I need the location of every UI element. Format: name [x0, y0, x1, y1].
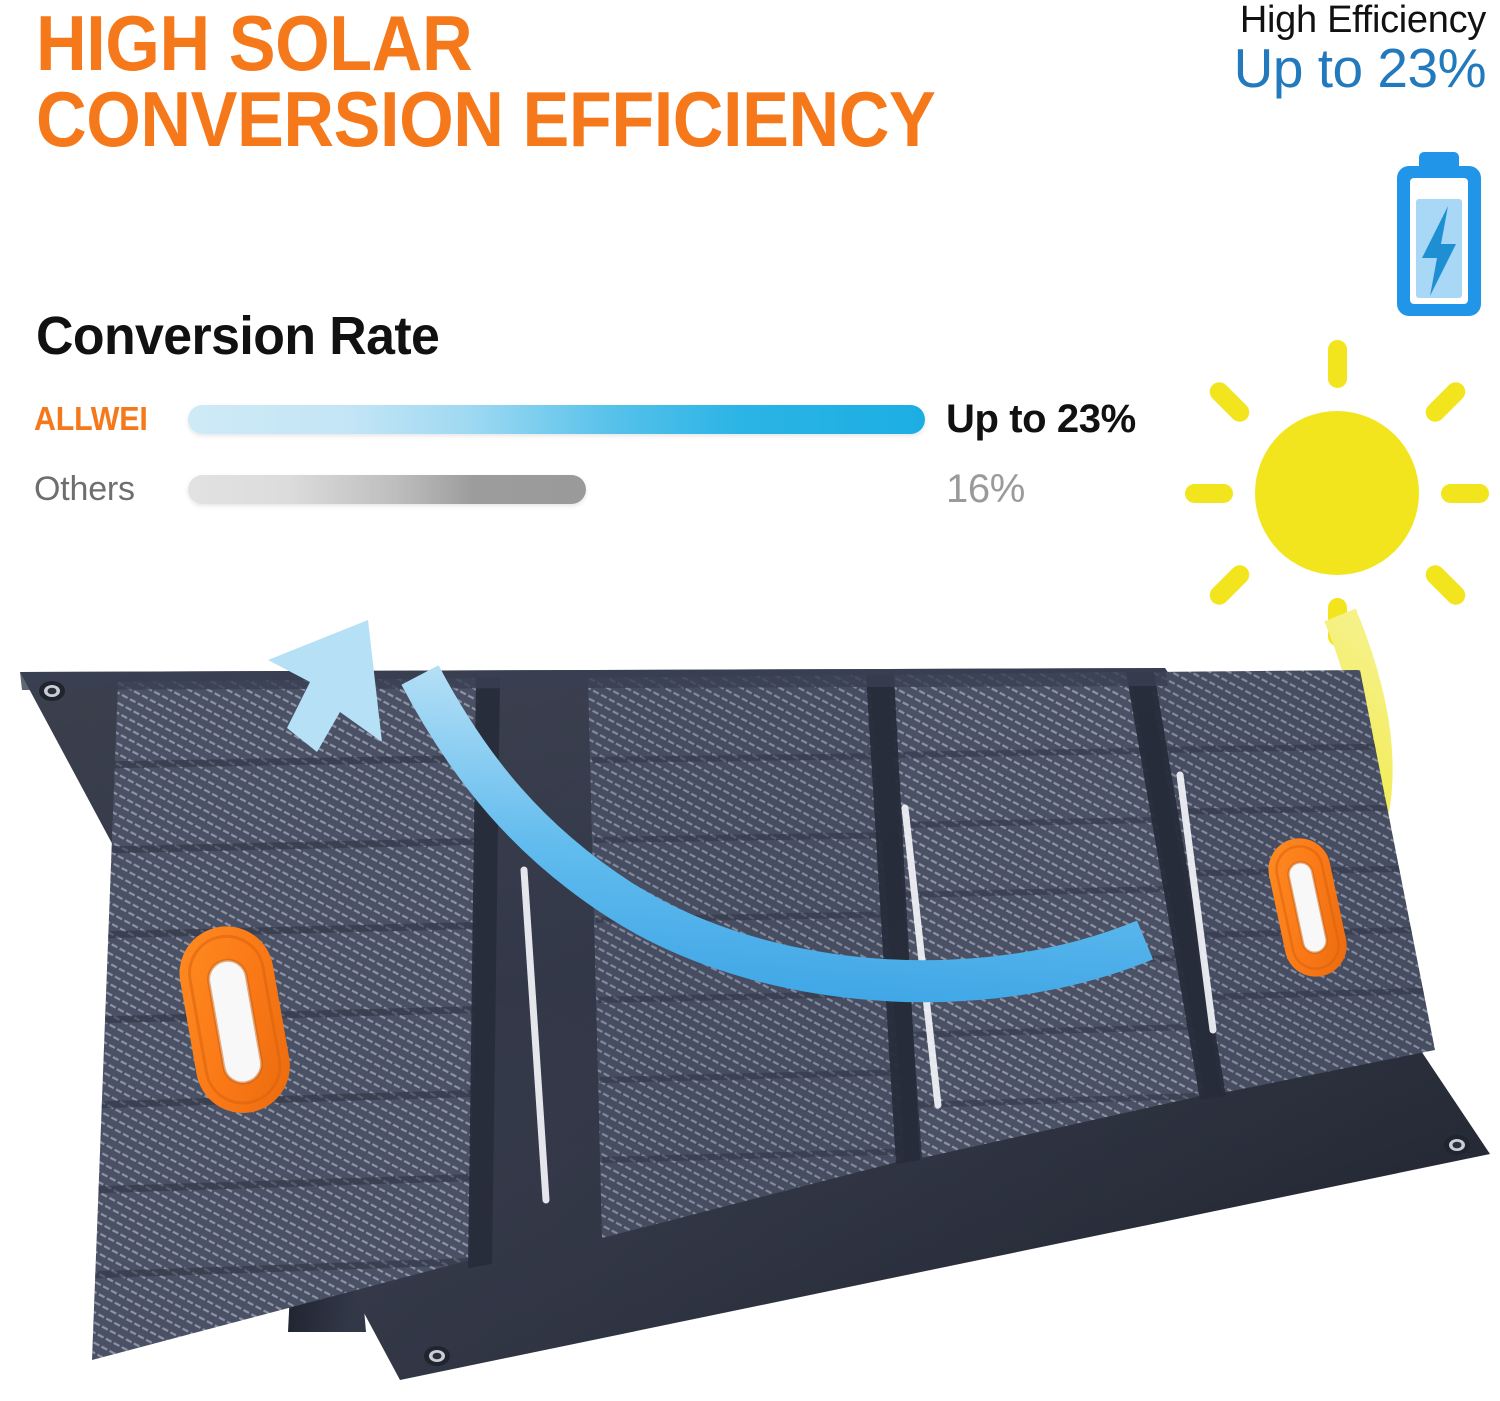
grommet: [1444, 1135, 1470, 1155]
page-title: HIGH SOLAR CONVERSION EFFICIENCY: [36, 6, 1026, 157]
grommet: [424, 1346, 450, 1366]
brand-label-allwei: ALLWEI: [34, 396, 172, 442]
efficiency-badge: High Efficiency Up to 23%: [1166, 0, 1486, 98]
progress-value-allwei: Up to 23%: [946, 396, 1136, 442]
solar-panel-body: [20, 650, 1500, 1401]
battery-charging-icon: [1386, 146, 1492, 322]
progress-track-others: [188, 475, 586, 504]
efficiency-label: High Efficiency: [1166, 0, 1486, 41]
marketing-banner: HIGH SOLAR CONVERSION EFFICIENCY High Ef…: [0, 0, 1500, 1401]
conversion-rate-row-allwei: ALLWEI Up to 23%: [0, 396, 1180, 442]
efficiency-value: Up to 23%: [1166, 39, 1486, 98]
progress-bar-others: [188, 475, 586, 504]
progress-track-allwei: [188, 405, 925, 434]
conversion-rate-title: Conversion Rate: [36, 305, 439, 367]
solar-panel-illustration: [0, 560, 1500, 1401]
grommet: [39, 681, 65, 701]
progress-bar-allwei: [188, 405, 925, 434]
brand-label-others: Others: [34, 466, 184, 512]
conversion-rate-row-others: Others 16%: [0, 466, 1180, 512]
progress-value-others: 16%: [946, 466, 1025, 512]
